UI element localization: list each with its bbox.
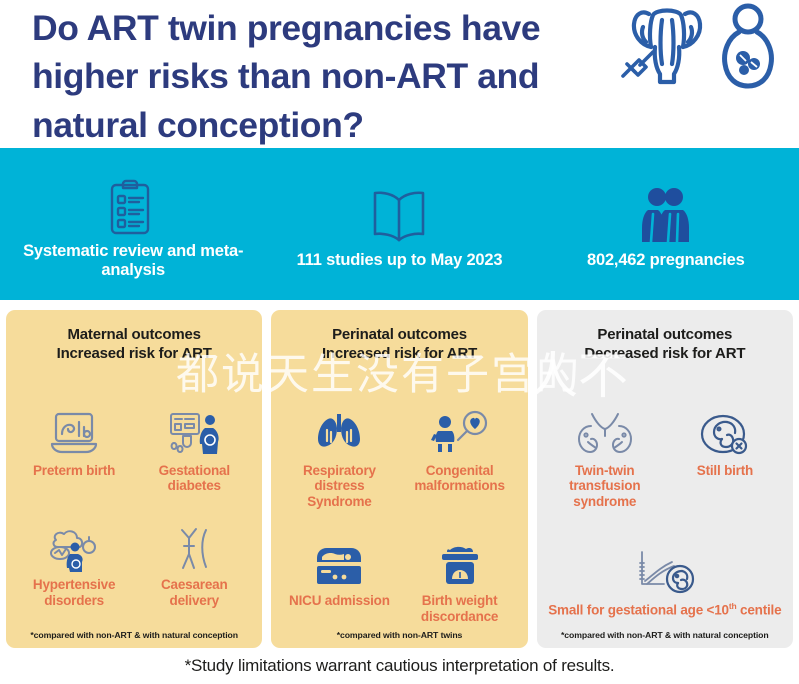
- growth-chart-fetus-icon: [628, 544, 702, 596]
- outcome-gestational-diabetes: Gestational diabetes: [134, 406, 254, 495]
- lungs-icon: [313, 406, 365, 458]
- outcome-birth-weight-discordance: Birth weight discordance: [400, 536, 520, 625]
- outcome-label: Caesarean delivery: [134, 577, 254, 609]
- pregnant-woman-icon: [719, 2, 777, 92]
- caesarean-incision-icon: [170, 520, 218, 572]
- outcome-label: Gestational diabetes: [134, 463, 254, 495]
- card-row: Twin-twin transfusion syndrome: [545, 406, 785, 511]
- card-title: Perinatal outcomes Decreased risk for AR…: [545, 326, 785, 364]
- fetus-cross-icon: [697, 406, 753, 458]
- outcome-label-superscript: th: [729, 601, 737, 611]
- outcome-label: Respiratory distress Syndrome: [279, 463, 399, 511]
- card-perinatal-decreased: Perinatal outcomes Decreased risk for AR…: [537, 310, 793, 648]
- outcome-respiratory-distress-syndrome: Respiratory distress Syndrome: [279, 406, 399, 511]
- outcome-preterm-birth: Preterm birth: [14, 406, 134, 495]
- card-body: Respiratory distress Syndrome: [279, 368, 519, 649]
- open-book-icon: [368, 183, 430, 247]
- card-row: Hypertensive disorders: [14, 520, 254, 609]
- card-row: Preterm birth: [14, 406, 254, 495]
- stat-systematic-review: Systematic review and meta-analysis: [0, 148, 266, 300]
- outcome-label: Congenital malformations: [400, 463, 520, 495]
- uterus-syringe-ivf-icon: [615, 2, 713, 92]
- card-perinatal-increased: Perinatal outcomes Increased risk for AR…: [271, 310, 527, 648]
- infographic-page: Do ART twin pregnancies have higher risk…: [0, 0, 799, 684]
- footer-note: *Study limitations warrant cautious inte…: [185, 656, 615, 676]
- stat-label: Systematic review and meta-analysis: [0, 242, 266, 281]
- outcome-small-for-gestational-age: Small for gestational age <10th centile: [545, 544, 785, 618]
- stats-band: Systematic review and meta-analysis 111 …: [0, 148, 799, 300]
- card-body: Preterm birth: [14, 368, 254, 649]
- outcome-label: Birth weight discordance: [400, 593, 520, 625]
- card-body: Twin-twin transfusion syndrome: [545, 368, 785, 649]
- card-title-line1: Maternal outcomes: [68, 326, 201, 343]
- card-row: Small for gestational age <10th centile: [545, 544, 785, 618]
- outcome-hypertensive-disorders: Hypertensive disorders: [14, 520, 134, 609]
- stat-pregnancies: 802,462 pregnancies: [533, 148, 799, 300]
- card-title-line2: Decreased risk for ART: [584, 345, 745, 362]
- outcome-label: NICU admission: [287, 593, 392, 609]
- blood-pressure-pregnant-woman-icon: [44, 520, 104, 572]
- card-footnote: *compared with non-ART & with natural co…: [537, 630, 793, 640]
- card-title: Maternal outcomes Increased risk for ART: [14, 326, 254, 364]
- outcome-label: Hypertensive disorders: [14, 577, 134, 609]
- card-title-line1: Perinatal outcomes: [597, 326, 732, 343]
- twin-fetuses-icon: [574, 406, 636, 458]
- stat-studies: 111 studies up to May 2023: [266, 148, 532, 300]
- card-row: NICU admission: [279, 536, 519, 625]
- card-row: Respiratory distress Syndrome: [279, 406, 519, 511]
- page-title: Do ART twin pregnancies have higher risk…: [0, 0, 590, 149]
- outcome-label-tail: centile: [737, 603, 782, 618]
- card-title: Perinatal outcomes Increased risk for AR…: [279, 326, 519, 364]
- outcome-twin-twin-transfusion-syndrome: Twin-twin transfusion syndrome: [545, 406, 665, 511]
- card-title-line2: Increased risk for ART: [57, 345, 212, 362]
- stat-label: 111 studies up to May 2023: [297, 251, 503, 270]
- clipboard-checklist-icon: [106, 174, 160, 238]
- outcome-still-birth: Still birth: [665, 406, 785, 511]
- baby-magnifier-heart-icon: [430, 406, 490, 458]
- footer: *Study limitations warrant cautious inte…: [0, 648, 799, 684]
- header-icon-group: [615, 2, 777, 92]
- outcome-label-main: Small for gestational age <10: [548, 603, 729, 618]
- outcome-label: Still birth: [695, 463, 755, 479]
- card-title-line2: Increased risk for ART: [322, 345, 477, 362]
- glucose-test-pregnant-woman-icon: [165, 406, 223, 458]
- card-maternal-outcomes: Maternal outcomes Increased risk for ART: [6, 310, 262, 648]
- ultrasound-monitor-icon: [47, 406, 101, 458]
- incubator-icon: [311, 536, 367, 588]
- outcome-congenital-malformations: Congenital malformations: [400, 406, 520, 511]
- baby-weighing-scale-icon: [434, 536, 486, 588]
- outcome-nicu-admission: NICU admission: [279, 536, 399, 625]
- card-footnote: *compared with non-ART & with natural co…: [6, 630, 262, 640]
- card-title-line1: Perinatal outcomes: [332, 326, 467, 343]
- stat-label: 802,462 pregnancies: [587, 251, 745, 270]
- header: Do ART twin pregnancies have higher risk…: [0, 0, 799, 148]
- outcome-label: Preterm birth: [31, 463, 117, 479]
- two-people-icon: [638, 183, 694, 247]
- outcome-cards: Maternal outcomes Increased risk for ART: [0, 310, 799, 648]
- outcome-caesarean-delivery: Caesarean delivery: [134, 520, 254, 609]
- outcome-label: Twin-twin transfusion syndrome: [545, 463, 665, 511]
- outcome-label: Small for gestational age <10th centile: [546, 601, 783, 618]
- card-footnote: *compared with non-ART twins: [271, 630, 527, 640]
